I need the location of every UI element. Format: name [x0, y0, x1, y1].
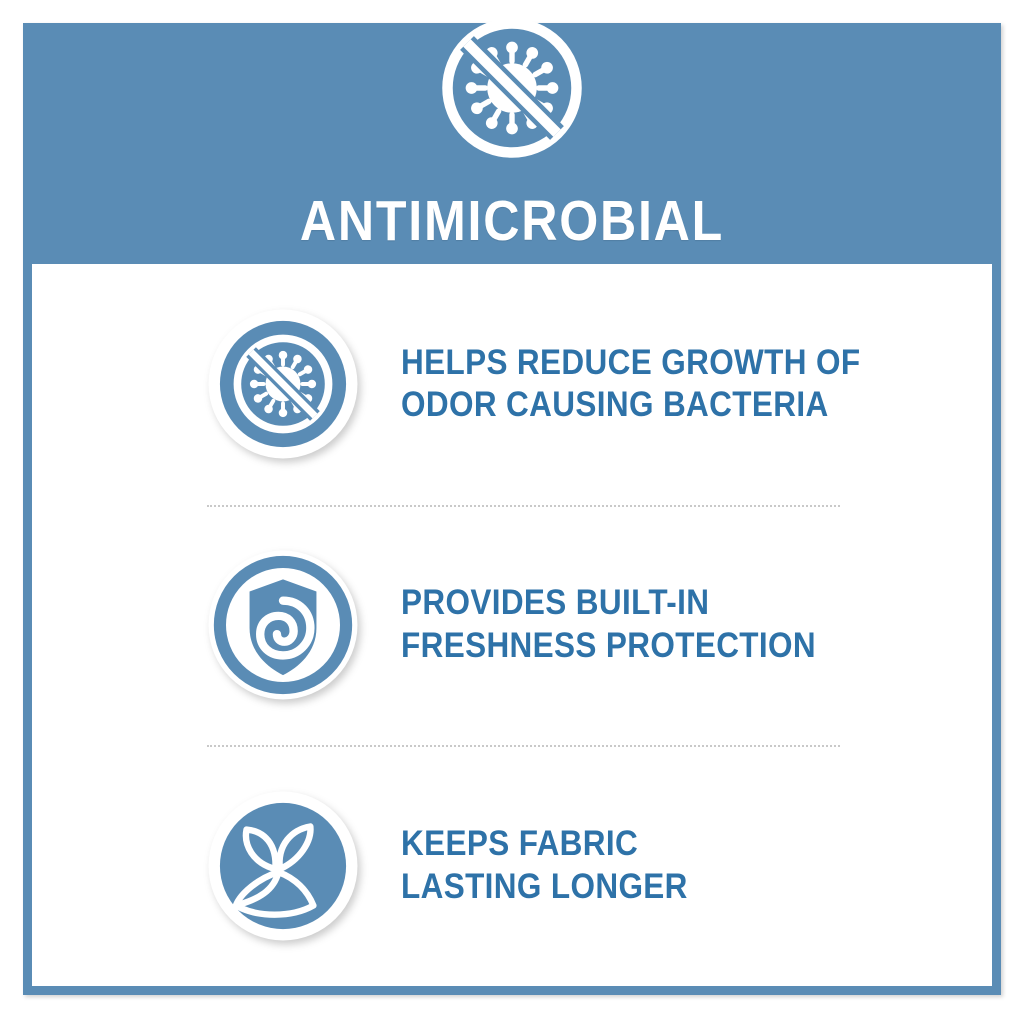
feature-row-freshness[interactable]: PROVIDES BUILT-IN FRESHNESS PROTECTION [32, 505, 992, 746]
infographic-frame: ANTIMICROBIAL [23, 23, 1001, 995]
features-panel: HELPS REDUCE GROWTH OF ODOR CAUSING BACT… [32, 264, 992, 986]
leaf-sprout-icon [207, 790, 359, 942]
page-title: ANTIMICROBIAL [300, 193, 724, 250]
features-list: HELPS REDUCE GROWTH OF ODOR CAUSING BACT… [32, 264, 992, 986]
feature-row-fabric[interactable]: KEEPS FABRIC LASTING LONGER [32, 745, 992, 986]
feature-label-freshness: PROVIDES BUILT-IN FRESHNESS PROTECTION [401, 582, 816, 667]
feature-divider [207, 745, 840, 747]
feature-line-2: FRESHNESS PROTECTION [401, 625, 816, 668]
antimicrobial-infographic: ANTIMICROBIAL [0, 0, 1024, 1024]
feature-row-bacteria[interactable]: HELPS REDUCE GROWTH OF ODOR CAUSING BACT… [32, 264, 992, 505]
shield-freshness-icon [207, 549, 359, 701]
feature-line-2: ODOR CAUSING BACTERIA [401, 384, 860, 427]
no-germs-icon [437, 13, 587, 163]
feature-divider [207, 505, 840, 507]
header-band: ANTIMICROBIAL [32, 32, 992, 264]
feature-line-1: PROVIDES BUILT-IN [401, 582, 816, 625]
feature-line-1: KEEPS FABRIC [401, 823, 688, 866]
feature-label-bacteria: HELPS REDUCE GROWTH OF ODOR CAUSING BACT… [401, 342, 860, 427]
no-germs-icon [207, 308, 359, 460]
feature-label-fabric: KEEPS FABRIC LASTING LONGER [401, 823, 688, 908]
feature-line-1: HELPS REDUCE GROWTH OF [401, 342, 860, 385]
feature-line-2: LASTING LONGER [401, 866, 688, 909]
